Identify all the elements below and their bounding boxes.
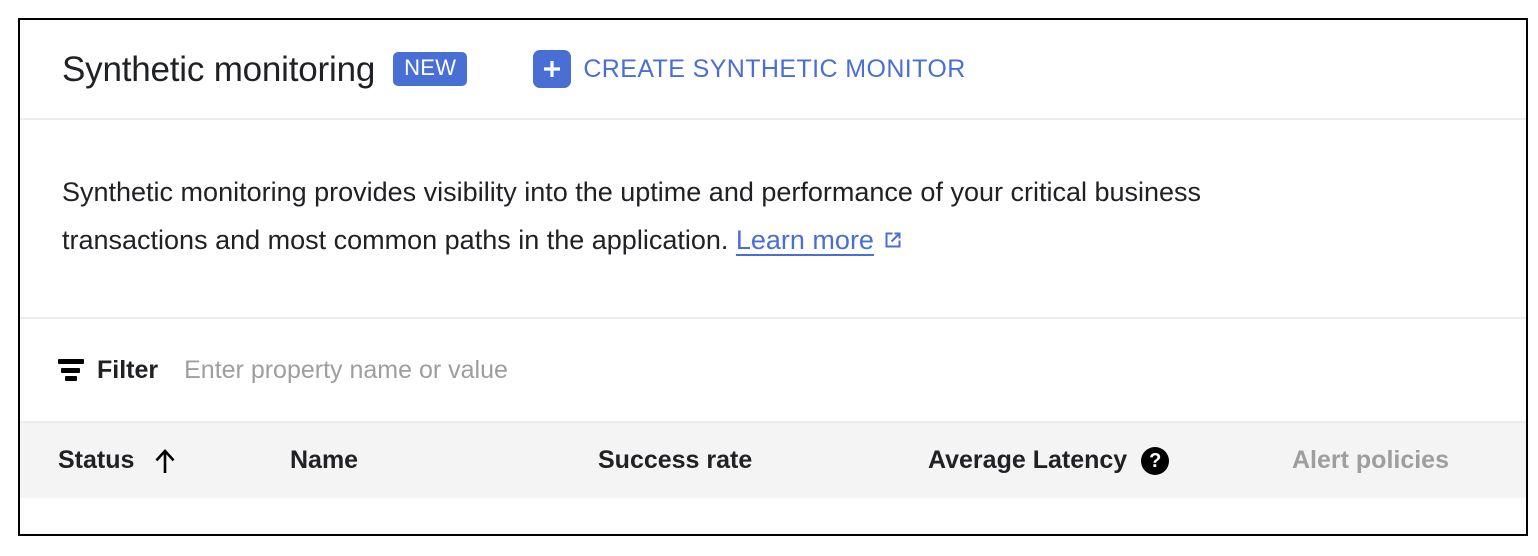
- column-header-status[interactable]: Status: [58, 446, 290, 476]
- column-header-average-latency-label: Average Latency: [928, 448, 1127, 473]
- column-header-success-rate-label: Success rate: [598, 448, 752, 473]
- description-text: Synthetic monitoring provides visibility…: [62, 168, 1322, 267]
- filter-label: Filter: [97, 358, 158, 383]
- filter-bar[interactable]: Filter: [20, 319, 1526, 421]
- filter-input[interactable]: [184, 356, 884, 385]
- learn-more-link[interactable]: Learn more: [736, 225, 874, 255]
- filter-list-icon[interactable]: [58, 359, 84, 381]
- table-header-row: Status Name Success rate Average Latency…: [20, 421, 1526, 498]
- new-badge: NEW: [393, 52, 467, 86]
- page-header: Synthetic monitoring NEW CREATE SYNTHETI…: [20, 20, 1526, 120]
- table-body: [20, 498, 1526, 533]
- description-section: Synthetic monitoring provides visibility…: [20, 120, 1526, 319]
- help-circle-icon[interactable]: ?: [1141, 447, 1169, 475]
- external-link-icon[interactable]: [881, 219, 905, 267]
- create-synthetic-monitor-label: CREATE SYNTHETIC MONITOR: [583, 57, 965, 82]
- create-synthetic-monitor-button[interactable]: CREATE SYNTHETIC MONITOR: [527, 46, 971, 92]
- column-header-alert-policies: Alert policies: [1292, 448, 1449, 473]
- arrow-up-icon[interactable]: [152, 446, 178, 476]
- description-body: Synthetic monitoring provides visibility…: [62, 177, 1201, 255]
- column-header-alert-policies-label: Alert policies: [1292, 448, 1449, 473]
- column-header-average-latency[interactable]: Average Latency ?: [928, 447, 1292, 475]
- column-header-success-rate[interactable]: Success rate: [598, 448, 928, 473]
- column-header-name[interactable]: Name: [290, 448, 598, 473]
- column-header-status-label: Status: [58, 448, 134, 473]
- column-header-name-label: Name: [290, 448, 358, 473]
- synthetic-monitoring-panel: Synthetic monitoring NEW CREATE SYNTHETI…: [18, 18, 1528, 536]
- page-title: Synthetic monitoring: [62, 52, 375, 87]
- plus-icon: [533, 50, 571, 88]
